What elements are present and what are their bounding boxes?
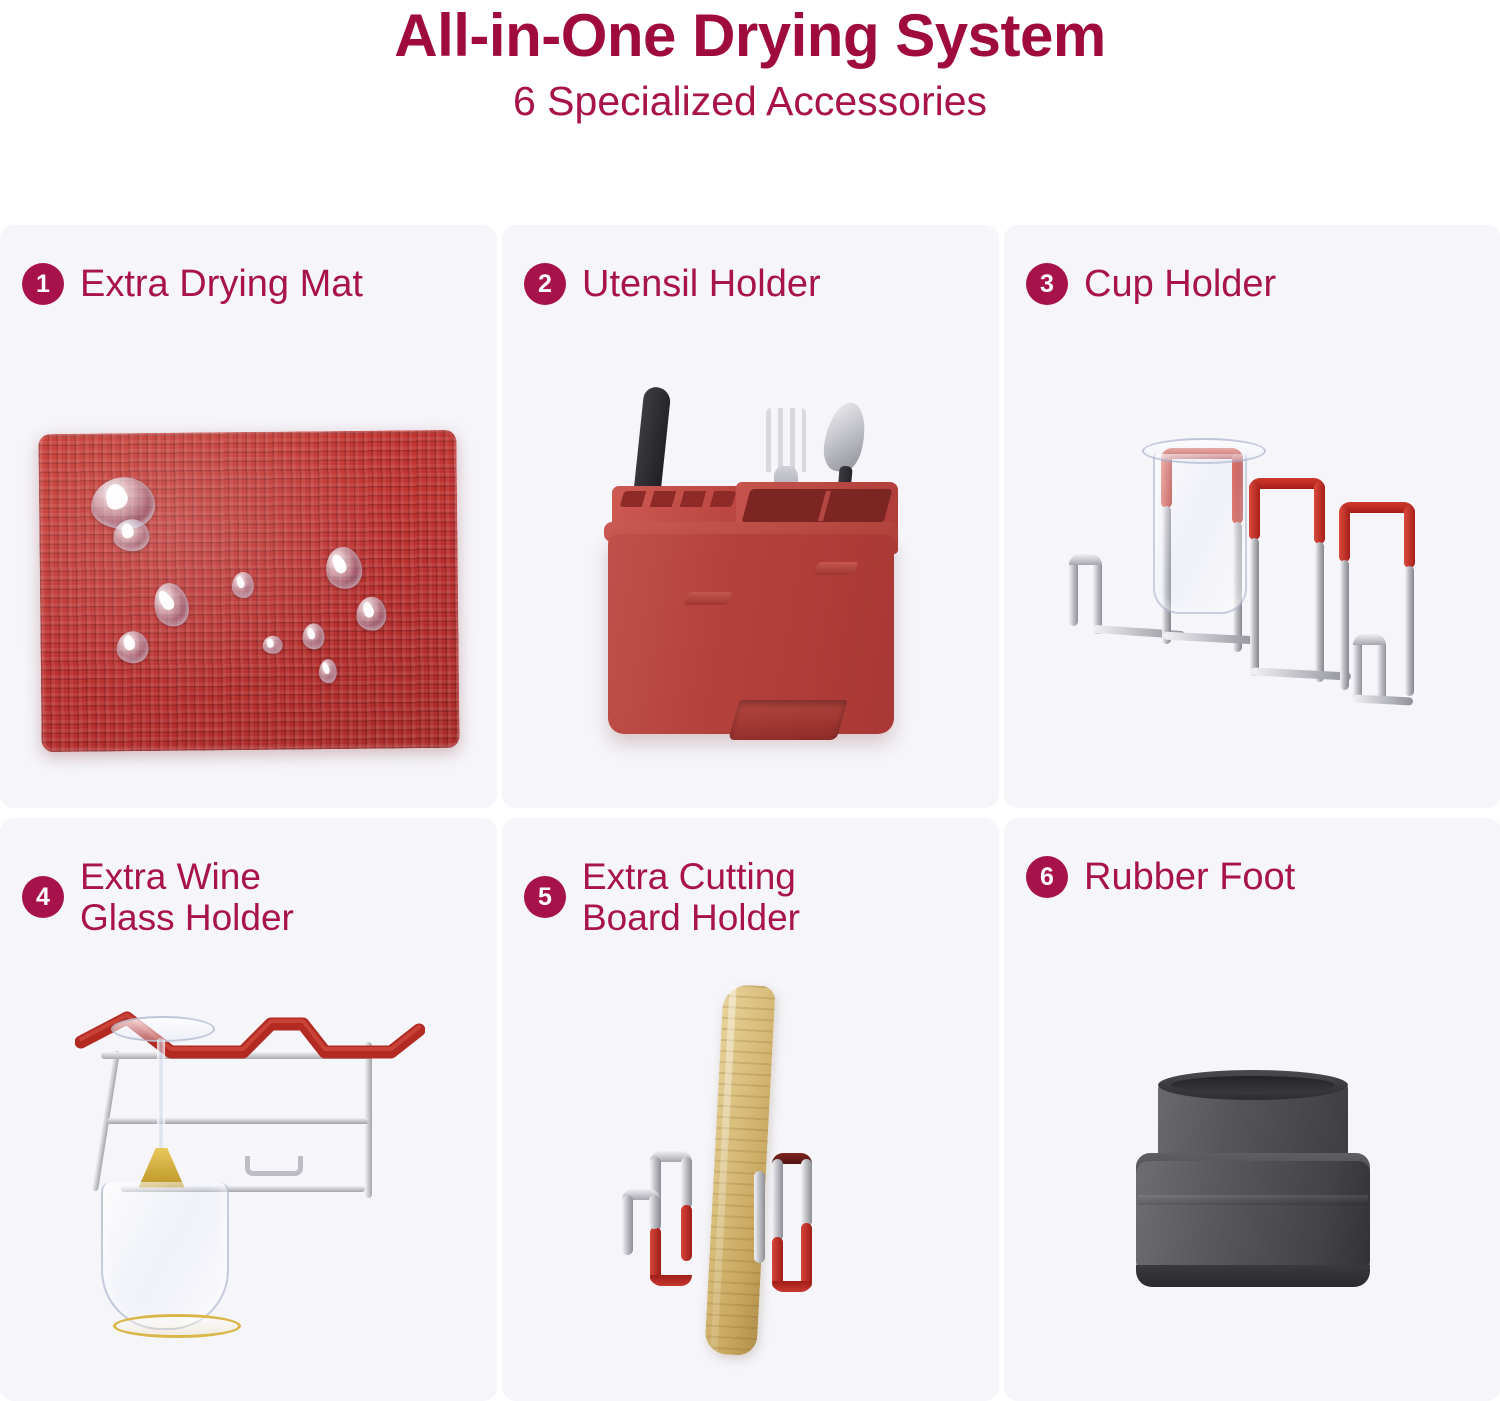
card-title-3: Cup Holder <box>1084 263 1276 306</box>
cup-holder-icon <box>1004 355 1500 808</box>
card-header: 4 Extra Wine Glass Holder <box>0 818 497 939</box>
clip-right-outer-a <box>772 1159 783 1241</box>
clip-left-arc-bottom <box>650 1275 692 1286</box>
page-title: All-in-One Drying System <box>0 4 1500 69</box>
card-header: 2 Utensil Holder <box>502 225 999 306</box>
end-hook-right <box>1353 640 1362 702</box>
frame-clip <box>245 1156 303 1176</box>
utensil-holder-icon <box>502 355 999 808</box>
card-header: 6 Rubber Foot <box>1004 818 1500 899</box>
clip-right-arc-bottom <box>772 1281 812 1292</box>
accessory-card-wine-glass-holder[interactable]: 4 Extra Wine Glass Holder <box>0 818 497 1401</box>
clip-right-outer-b-red <box>801 1223 812 1289</box>
end-hook-right-arc <box>1353 634 1386 645</box>
header: All-in-One Drying System 6 Specialized A… <box>0 0 1500 126</box>
drip-tray <box>728 700 847 740</box>
mount-tab-left <box>683 592 732 605</box>
foot-band <box>1138 1195 1368 1205</box>
card-title-5: Extra Cutting Board Holder <box>582 856 800 939</box>
end-hook-left-2 <box>1093 560 1102 634</box>
accessory-card-rubber-foot[interactable]: 6 Rubber Foot <box>1004 818 1500 1401</box>
drying-mat-icon <box>0 355 497 808</box>
card-title-6: Rubber Foot <box>1084 856 1295 899</box>
mount-tab-right <box>813 562 858 575</box>
clip-left-inner-b <box>649 1195 660 1229</box>
card-title-4: Extra Wine Glass Holder <box>80 856 294 939</box>
clip-left-outer-b-red <box>681 1205 692 1261</box>
glass-stem <box>157 1038 165 1156</box>
clip-left-outer-b <box>681 1157 692 1209</box>
accessory-card-utensil-holder[interactable]: 2 Utensil Holder <box>502 225 999 808</box>
step-badge-4: 4 <box>22 876 64 918</box>
infographic-page: All-in-One Drying System 6 Specialized A… <box>0 0 1500 1401</box>
clip-right-inner <box>754 1171 765 1263</box>
foot-bottom-edge <box>1136 1265 1370 1287</box>
cutting-board-holder-icon <box>502 948 999 1401</box>
step-badge-6: 6 <box>1026 856 1068 898</box>
step-badge-5: 5 <box>524 876 566 918</box>
step-badge-1: 1 <box>22 263 64 305</box>
wine-glass-holder-icon <box>0 948 497 1401</box>
step-badge-3: 3 <box>1026 263 1068 305</box>
foot-base <box>1136 1161 1370 1277</box>
page-subtitle: 6 Specialized Accessories <box>0 77 1500 126</box>
clip-left-inner-a <box>622 1195 633 1255</box>
card-header: 3 Cup Holder <box>1004 225 1500 306</box>
glass-on-rack <box>1153 454 1247 614</box>
card-title-1: Extra Drying Mat <box>80 263 363 306</box>
card-header: 5 Extra Cutting Board Holder <box>502 818 999 939</box>
glass-bowl <box>101 1182 229 1330</box>
accessory-grid: 1 Extra Drying Mat <box>0 225 1500 1401</box>
accessory-card-drying-mat[interactable]: 1 Extra Drying Mat <box>0 225 497 808</box>
arch-prong-2 <box>1249 478 1325 674</box>
cutting-board <box>704 983 775 1355</box>
accessory-card-cup-holder[interactable]: 3 Cup Holder <box>1004 225 1500 808</box>
end-hook-left-arc <box>1069 554 1102 565</box>
end-hook-left <box>1069 560 1078 626</box>
wine-glass <box>89 1010 239 1340</box>
end-hook-right-2 <box>1377 640 1386 702</box>
clip-right-outer-b <box>801 1159 812 1227</box>
foot-top-rim <box>1158 1070 1348 1100</box>
step-badge-2: 2 <box>524 263 566 305</box>
glass-gold-rim <box>113 1314 241 1338</box>
mat-surface <box>38 429 459 751</box>
card-title-2: Utensil Holder <box>582 263 821 306</box>
rubber-foot-icon <box>1004 948 1500 1401</box>
card-header: 1 Extra Drying Mat <box>0 225 497 306</box>
accessory-card-cutting-board-holder[interactable]: 5 Extra Cutting Board Holder <box>502 818 999 1401</box>
